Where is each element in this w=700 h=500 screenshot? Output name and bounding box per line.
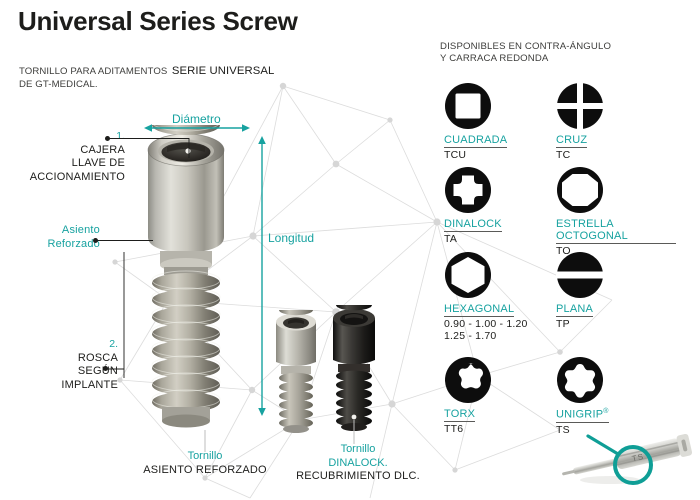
drive-option-cruz[interactable]: CRUZ TC xyxy=(556,82,676,162)
drive-label-dinalock: DINALOCK xyxy=(444,218,502,232)
drive-option-plana[interactable]: PLANA TP xyxy=(556,251,676,331)
tool-highlight-leader xyxy=(588,436,618,454)
drive-code-torx: TT6 xyxy=(444,424,564,436)
callout-rosca-line1: ROSCA xyxy=(8,352,118,366)
drive-option-cuadrada[interactable]: CUADRADA TCU xyxy=(444,82,564,162)
flat-drive-icon xyxy=(556,251,604,299)
caption-screw-dinalock-line1: Tornillo xyxy=(283,443,433,457)
length-label: Longitud xyxy=(268,231,314,245)
drives-heading-line2: Y CARRACA REDONDA xyxy=(440,53,611,65)
caption-screw-main-leader xyxy=(200,430,210,452)
drive-option-dinalock[interactable]: DINALOCK TA xyxy=(444,166,564,246)
callout-rosca-line3: IMPLANTE xyxy=(8,379,118,393)
callout-asiento-line1: Asiento xyxy=(10,224,100,238)
caption-screw-main: Tornillo ASIENTO REFORZADO xyxy=(110,450,300,477)
drive-option-estrella-octogonal[interactable]: ESTRELLA OCTOGONAL TO xyxy=(556,166,676,258)
caption-screw-dinalock: Tornillo DINALOCK. RECUBRIMIENTO DLC. xyxy=(283,443,433,484)
intro-line2: DE GT-MEDICAL. xyxy=(19,79,289,92)
intro-line1: TORNILLO PARA ADITAMENTOS xyxy=(19,66,167,77)
small-screw-dinalock-dlc xyxy=(325,305,383,437)
callout-cajera-line3: ACCIONAMIENTO xyxy=(10,171,125,185)
drive-option-torx[interactable]: TORX TT6 xyxy=(444,356,564,436)
drive-code-dinalock: TA xyxy=(444,234,564,246)
drive-label-cuadrada: CUADRADA xyxy=(444,134,507,148)
unigrip-drive-icon xyxy=(556,356,604,404)
callout-rosca-leader xyxy=(105,252,131,378)
driver-tool-illustration: TS xyxy=(560,424,700,494)
length-arrow xyxy=(255,136,269,416)
drives-panel-heading: DISPONIBLES EN CONTRA-ÁNGULO Y CARRACA R… xyxy=(440,41,611,64)
drive-code-plana: TP xyxy=(556,319,676,331)
callout-asiento-line2: Reforzado xyxy=(10,238,100,252)
caption-screw-dinalock-leader xyxy=(349,420,359,444)
callout-asiento: Asiento Reforzado xyxy=(10,224,100,251)
caption-screw-main-line1: Tornillo xyxy=(110,450,300,464)
callout-rosca-line2: SEGÚN xyxy=(8,365,118,379)
caption-screw-dinalock-line3: RECUBRIMIENTO DLC. xyxy=(283,470,433,484)
callout-asiento-leader xyxy=(95,237,155,245)
hexagon-drive-icon xyxy=(444,251,492,299)
drive-label-torx: TORX xyxy=(444,408,475,422)
small-screw-titanium xyxy=(268,310,324,438)
infographic-page: Universal Series Screw TORNILLO PARA ADI… xyxy=(0,0,700,500)
intro-emphasis: SERIE UNIVERSAL xyxy=(172,65,275,77)
square-drive-icon xyxy=(444,82,492,130)
callout-rosca: 2. ROSCA SEGÚN IMPLANTE xyxy=(8,336,118,392)
drive-label-unigrip-trademark: ® xyxy=(603,408,608,415)
drive-label-cruz: CRUZ xyxy=(556,134,587,148)
torx-drive-icon xyxy=(444,356,492,404)
callout-cajera-leader xyxy=(107,128,197,160)
drives-heading-line1: DISPONIBLES EN CONTRA-ÁNGULO xyxy=(440,41,611,53)
drive-code-cruz: TC xyxy=(556,150,676,162)
drive-code-hexagonal: 0.90 - 1.00 - 1.20 1.25 - 1.70 xyxy=(444,319,564,342)
drive-code-cuadrada: TCU xyxy=(444,150,564,162)
intro-text: TORNILLO PARA ADITAMENTOS SERIE UNIVERSA… xyxy=(19,64,289,91)
drive-option-hexagonal[interactable]: HEXAGONAL 0.90 - 1.00 - 1.20 1.25 - 1.70 xyxy=(444,251,564,342)
caption-screw-main-line2: ASIENTO REFORZADO xyxy=(110,464,300,478)
caption-screw-dinalock-line2: DINALOCK. xyxy=(283,457,433,471)
drive-label-plana: PLANA xyxy=(556,303,593,317)
drive-label-hexagonal: HEXAGONAL xyxy=(444,303,514,317)
dinalock-drive-icon xyxy=(444,166,492,214)
drive-label-unigrip-text: UNIGRIP xyxy=(556,409,603,421)
cross-drive-icon xyxy=(556,82,604,130)
page-title: Universal Series Screw xyxy=(18,6,298,37)
drive-label-unigrip: UNIGRIP® xyxy=(556,408,609,423)
octagon-drive-icon xyxy=(556,166,604,214)
drive-label-estrella-octogonal: ESTRELLA OCTOGONAL xyxy=(556,218,676,244)
